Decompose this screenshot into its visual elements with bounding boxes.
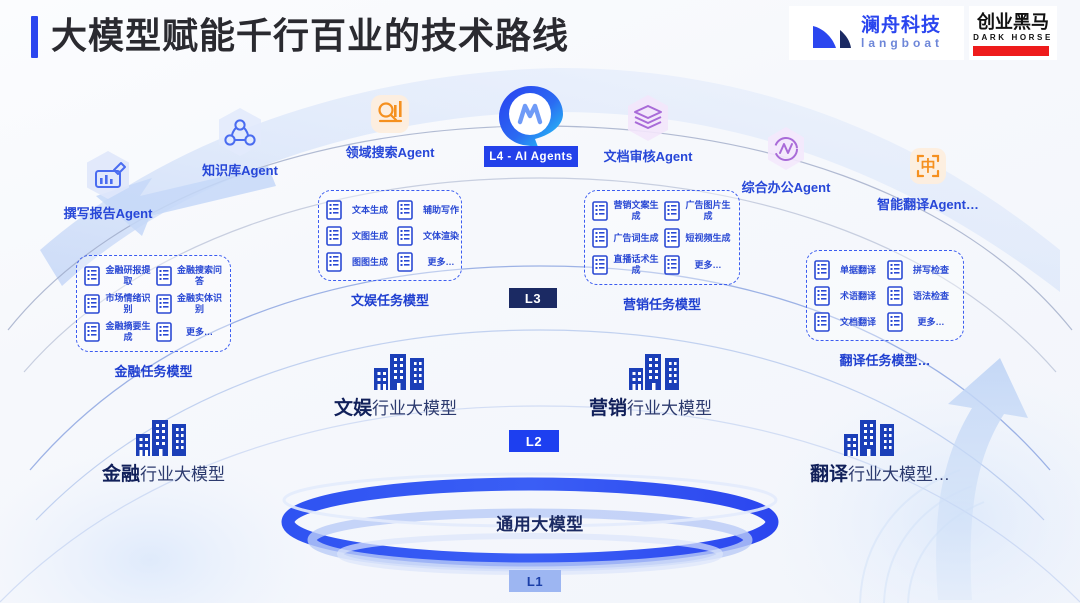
document-icon bbox=[887, 260, 903, 280]
langboat-name-en: langboat bbox=[861, 36, 943, 50]
task-item[interactable]: 语法检查 bbox=[887, 286, 956, 306]
industry-model-label: 金融行业大模型 bbox=[102, 459, 225, 486]
level-badge-l2: L2 bbox=[509, 430, 559, 452]
industry-suffix: 行业大模型 bbox=[140, 465, 225, 484]
ai-agents-logo-icon bbox=[494, 83, 568, 149]
task-item-label: 文体渲染 bbox=[418, 231, 464, 242]
task-item[interactable]: 文档翻译 bbox=[814, 312, 883, 332]
industry-suffix: 行业大模型… bbox=[848, 465, 950, 484]
task-item[interactable]: 更多… bbox=[397, 252, 464, 272]
header: 大模型赋能千行百业的技术路线 澜舟科技 langboat 创业黑马 DARK H… bbox=[0, 0, 1080, 72]
task-item-label: 更多… bbox=[177, 327, 223, 338]
task-item-label: 辅助写作 bbox=[418, 205, 464, 216]
task-item[interactable]: 单据翻译 bbox=[814, 260, 883, 280]
task-item-label: 金融研报提取 bbox=[105, 265, 151, 287]
industry-name: 营销 bbox=[589, 398, 627, 419]
buildings-icon bbox=[368, 352, 440, 392]
task-item[interactable]: 广告词生成 bbox=[592, 228, 660, 248]
task-item[interactable]: 更多… bbox=[887, 312, 956, 332]
langboat-sail-icon bbox=[810, 14, 854, 52]
industry-model-marketing[interactable]: 营销行业大模型 bbox=[589, 352, 712, 420]
task-item[interactable]: 金融研报提取 bbox=[84, 265, 152, 287]
agent-smart-translation[interactable]: 中 智能翻译Agent… bbox=[853, 139, 1003, 213]
agent-icon-wrap: 中 bbox=[853, 139, 1003, 193]
document-icon bbox=[814, 312, 830, 332]
agent-office-suite[interactable]: 综合办公Agent bbox=[711, 122, 861, 196]
document-icon bbox=[814, 260, 830, 280]
document-icon bbox=[887, 312, 903, 332]
task-item[interactable]: 文图生成 bbox=[326, 226, 393, 246]
industry-name: 翻译 bbox=[810, 464, 848, 485]
document-icon bbox=[397, 226, 413, 246]
document-icon bbox=[664, 201, 680, 221]
task-item[interactable]: 辅助写作 bbox=[397, 200, 464, 220]
level-badge-l3: L3 bbox=[509, 288, 557, 308]
task-item[interactable]: 更多… bbox=[156, 321, 224, 343]
task-item[interactable]: 广告图片生成 bbox=[664, 200, 732, 222]
task-item-label: 直播话术生成 bbox=[613, 254, 659, 276]
task-model-caption: 文娱任务模型 bbox=[318, 290, 462, 309]
task-item-label: 更多… bbox=[908, 317, 954, 328]
office-chart-icon bbox=[759, 122, 813, 176]
task-item[interactable]: 短视频生成 bbox=[664, 228, 732, 248]
industry-name: 金融 bbox=[102, 464, 140, 485]
document-icon bbox=[84, 294, 100, 314]
task-model-caption: 营销任务模型 bbox=[584, 294, 740, 313]
task-model-marketing: 营销文案生成 广告图片生成 广告词生成 短视频生成 直播话术生成 更多… bbox=[584, 190, 740, 313]
document-icon bbox=[664, 255, 680, 275]
diagram-canvas: 大模型赋能千行百业的技术路线 澜舟科技 langboat 创业黑马 DARK H… bbox=[0, 0, 1080, 603]
dark-horse-name-cn: 创业黑马 bbox=[973, 13, 1053, 32]
task-item-label: 单据翻译 bbox=[835, 265, 881, 276]
agent-domain-search[interactable]: 领域搜索Agent bbox=[315, 87, 465, 161]
document-icon bbox=[814, 286, 830, 306]
document-icon bbox=[397, 252, 413, 272]
document-icon bbox=[84, 266, 100, 286]
layers-document-icon bbox=[621, 91, 675, 145]
task-item[interactable]: 文本生成 bbox=[326, 200, 393, 220]
document-icon bbox=[592, 228, 608, 248]
report-chart-icon bbox=[81, 148, 135, 202]
task-model-finance: 金融研报提取 金融搜索问答 市场情绪识别 金融实体识别 金融摘要生成 更多… bbox=[76, 255, 231, 380]
agent-label: 智能翻译Agent… bbox=[853, 194, 1003, 213]
document-icon bbox=[326, 252, 342, 272]
task-item-label: 语法检查 bbox=[908, 291, 954, 302]
task-item-label: 金融实体识别 bbox=[177, 293, 223, 315]
task-item-label: 广告词生成 bbox=[613, 233, 659, 244]
agent-icon-wrap bbox=[165, 105, 315, 159]
task-item-label: 更多… bbox=[685, 260, 731, 271]
task-item[interactable]: 术语翻译 bbox=[814, 286, 883, 306]
task-item[interactable]: 市场情绪识别 bbox=[84, 293, 152, 315]
task-model-items: 单据翻译 拼写检查 术语翻译 语法检查 文档翻译 更多… bbox=[806, 250, 964, 341]
task-model-translation: 单据翻译 拼写检查 术语翻译 语法检查 文档翻译 更多… bbox=[806, 250, 964, 369]
document-icon bbox=[592, 255, 608, 275]
task-item-label: 短视频生成 bbox=[685, 233, 731, 244]
task-model-items: 金融研报提取 金融搜索问答 市场情绪识别 金融实体识别 金融摘要生成 更多… bbox=[76, 255, 231, 352]
task-model-caption: 翻译任务模型… bbox=[806, 350, 964, 369]
task-item-label: 图图生成 bbox=[347, 257, 393, 268]
task-item[interactable]: 金融搜索问答 bbox=[156, 265, 224, 287]
agent-icon-wrap bbox=[315, 87, 465, 141]
industry-model-translation[interactable]: 翻译行业大模型… bbox=[810, 418, 950, 486]
svg-text:中: 中 bbox=[920, 157, 935, 175]
task-item[interactable]: 金融实体识别 bbox=[156, 293, 224, 315]
task-item[interactable]: 图图生成 bbox=[326, 252, 393, 272]
dark-horse-red-bar bbox=[973, 46, 1049, 56]
task-item[interactable]: 营销文案生成 bbox=[592, 200, 660, 222]
document-icon bbox=[156, 294, 172, 314]
title-accent-bar bbox=[31, 16, 38, 58]
task-item-label: 文本生成 bbox=[347, 205, 393, 216]
level-badge-l1: L1 bbox=[509, 570, 561, 592]
langboat-logo: 澜舟科技 langboat bbox=[789, 6, 964, 60]
task-item-label: 拼写检查 bbox=[908, 265, 954, 276]
translate-cn-icon: 中 bbox=[901, 139, 955, 193]
task-item-label: 金融搜索问答 bbox=[177, 265, 223, 287]
task-model-media: 文本生成 辅助写作 文图生成 文体渲染 图图生成 更多… bbox=[318, 190, 462, 309]
industry-name: 文娱 bbox=[334, 398, 372, 419]
task-model-caption: 金融任务模型 bbox=[76, 361, 231, 380]
document-icon bbox=[664, 228, 680, 248]
agent-document-review[interactable]: 文档审核Agent bbox=[573, 91, 723, 165]
task-item[interactable]: 金融摘要生成 bbox=[84, 321, 152, 343]
agent-icon-wrap bbox=[33, 148, 183, 202]
industry-suffix: 行业大模型 bbox=[627, 399, 712, 418]
document-icon bbox=[156, 266, 172, 286]
buildings-icon bbox=[838, 418, 910, 458]
industry-model-label: 营销行业大模型 bbox=[589, 393, 712, 420]
buildings-icon bbox=[623, 352, 695, 392]
buildings-icon bbox=[130, 418, 202, 458]
industry-model-finance[interactable]: 金融行业大模型 bbox=[102, 418, 225, 486]
task-item-label: 金融摘要生成 bbox=[105, 321, 151, 343]
task-item[interactable]: 文体渲染 bbox=[397, 226, 464, 246]
agent-icon-wrap bbox=[711, 122, 861, 176]
task-item[interactable]: 拼写检查 bbox=[887, 260, 956, 280]
task-item-label: 广告图片生成 bbox=[685, 200, 731, 222]
task-item-label: 市场情绪识别 bbox=[105, 293, 151, 315]
dark-horse-logo: 创业黑马 DARK HORSE bbox=[969, 6, 1057, 60]
task-item[interactable]: 直播话术生成 bbox=[592, 254, 660, 276]
task-model-items: 文本生成 辅助写作 文图生成 文体渲染 图图生成 更多… bbox=[318, 190, 462, 281]
document-icon bbox=[84, 322, 100, 342]
task-item-label: 文档翻译 bbox=[835, 317, 881, 328]
dark-horse-name-en: DARK HORSE bbox=[973, 32, 1053, 43]
agent-label: 知识库Agent bbox=[165, 160, 315, 179]
agent-knowledge-base[interactable]: 知识库Agent bbox=[165, 105, 315, 179]
task-item-label: 文图生成 bbox=[347, 231, 393, 242]
task-item-label: 更多… bbox=[418, 257, 464, 268]
agent-label: 文档审核Agent bbox=[573, 146, 723, 165]
industry-model-label: 翻译行业大模型… bbox=[810, 459, 950, 486]
agent-icon-wrap bbox=[573, 91, 723, 145]
task-item[interactable]: 更多… bbox=[664, 254, 732, 276]
document-icon bbox=[887, 286, 903, 306]
industry-model-label: 文娱行业大模型 bbox=[334, 393, 457, 420]
knowledge-graph-icon bbox=[213, 105, 267, 159]
agent-label: 领域搜索Agent bbox=[315, 142, 465, 161]
task-model-items: 营销文案生成 广告图片生成 广告词生成 短视频生成 直播话术生成 更多… bbox=[584, 190, 740, 285]
task-item-label: 营销文案生成 bbox=[613, 200, 659, 222]
industry-suffix: 行业大模型 bbox=[372, 399, 457, 418]
industry-model-media[interactable]: 文娱行业大模型 bbox=[334, 352, 457, 420]
document-icon bbox=[592, 201, 608, 221]
search-stats-icon bbox=[363, 87, 417, 141]
document-icon bbox=[397, 200, 413, 220]
agent-report-writing[interactable]: 撰写报告Agent bbox=[33, 148, 183, 222]
document-icon bbox=[326, 226, 342, 246]
document-icon bbox=[326, 200, 342, 220]
level-badge-l4: L4 - AI Agents bbox=[484, 146, 578, 167]
task-item-label: 术语翻译 bbox=[835, 291, 881, 302]
langboat-name-cn: 澜舟科技 bbox=[861, 16, 943, 36]
document-icon bbox=[156, 322, 172, 342]
base-model-label: 通用大模型 bbox=[0, 510, 1080, 535]
page-title: 大模型赋能千行百业的技术路线 bbox=[51, 12, 569, 60]
agent-label: 撰写报告Agent bbox=[33, 203, 183, 222]
